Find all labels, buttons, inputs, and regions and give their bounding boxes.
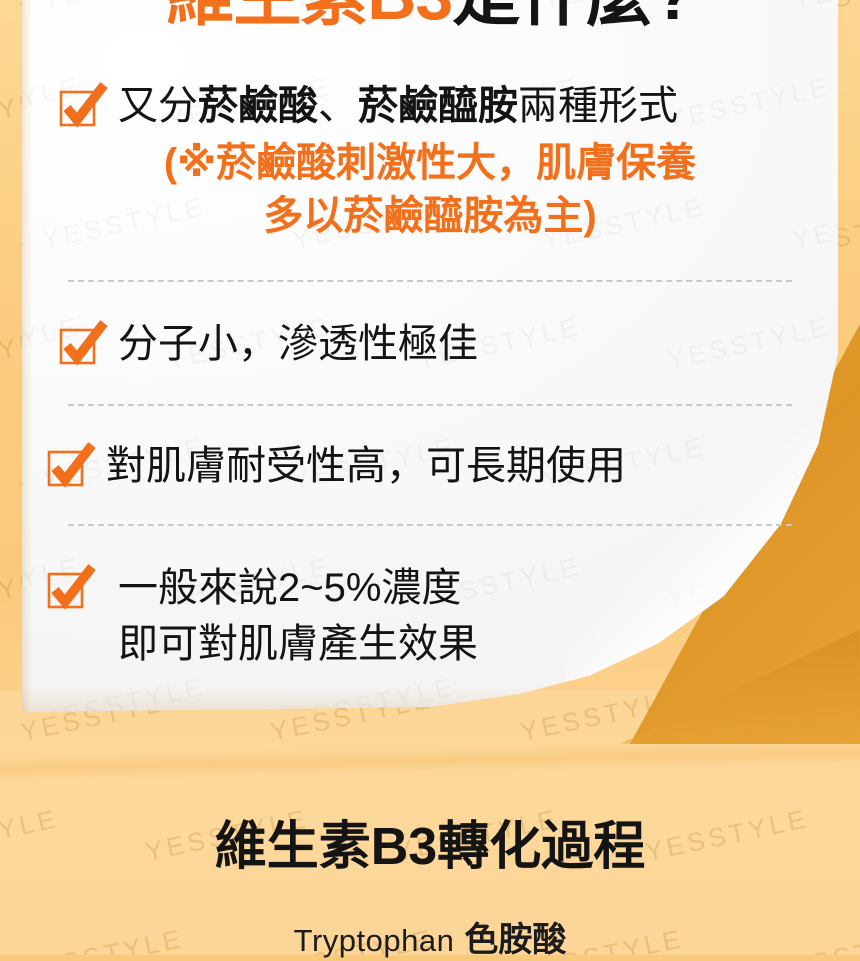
conversion-step-tryptophan: Tryptophan色胺酸 bbox=[0, 912, 860, 961]
section-heading: 維生素B3轉化過程 bbox=[0, 804, 860, 879]
bullet-seg-bold: 菸鹼醯胺 bbox=[358, 84, 518, 128]
page-title: 維生素B3是什麼? bbox=[22, 0, 838, 30]
step-chinese-label: 色胺酸 bbox=[464, 921, 566, 959]
bullet-text: 一般來說2~5%濃度 bbox=[118, 566, 461, 611]
bullet-seg: 又分 bbox=[118, 84, 198, 128]
bullet-seg: 一般來說2~5%濃度 bbox=[118, 566, 461, 610]
bullet-seg: 對肌膚耐受性高，可長期使用 bbox=[106, 444, 626, 488]
section-divider bbox=[68, 404, 792, 406]
bullet-seg-bold: 菸鹼酸 bbox=[198, 84, 318, 128]
bullet-note-line: 多以菸鹼醯胺為主) bbox=[22, 193, 838, 240]
bullet-text: 分子小，滲透性極佳 bbox=[118, 322, 478, 367]
bullet-seg: 即可對肌膚產生效果 bbox=[118, 622, 478, 666]
card-content: 維生素B3是什麼? 又分菸鹼酸、菸鹼醯胺兩種形式 (※菸鹼酸刺激性大，肌膚保養 … bbox=[22, 0, 838, 712]
section-divider bbox=[68, 280, 792, 282]
page-title-black: 是什麼? bbox=[452, 0, 694, 34]
paper-card-wrapper: YESSTYLEYESSTYLEYESSTYLEYESSTYLEYESSTYLE… bbox=[0, 0, 860, 739]
bullet-text: 對肌膚耐受性高，可長期使用 bbox=[106, 444, 626, 489]
bullet-note-text: 多以菸鹼醯胺為主) bbox=[263, 194, 596, 238]
section-heading-text: 維生素B3轉化過程 bbox=[215, 818, 645, 876]
bullet-text: 又分菸鹼酸、菸鹼醯胺兩種形式 bbox=[118, 84, 678, 129]
bullet-seg: 兩種形式 bbox=[518, 84, 678, 128]
checkbox-checked-icon bbox=[46, 566, 94, 610]
bullet-note-line: (※菸鹼酸刺激性大，肌膚保養 bbox=[22, 140, 838, 187]
checkbox-checked-icon bbox=[46, 444, 94, 488]
bullet-note-text: (※菸鹼酸刺激性大，肌膚保養 bbox=[164, 141, 696, 185]
page-title-orange: 維生素B3 bbox=[166, 0, 452, 34]
checkbox-checked-icon bbox=[58, 84, 106, 128]
checkbox-checked-icon bbox=[58, 322, 106, 366]
bullet-seg: 、 bbox=[318, 84, 358, 128]
bullet-seg: 分子小，滲透性極佳 bbox=[118, 322, 478, 366]
section-divider bbox=[68, 524, 792, 526]
bullet-text: 即可對肌膚產生效果 bbox=[118, 622, 478, 667]
step-english-label: Tryptophan bbox=[294, 923, 455, 958]
